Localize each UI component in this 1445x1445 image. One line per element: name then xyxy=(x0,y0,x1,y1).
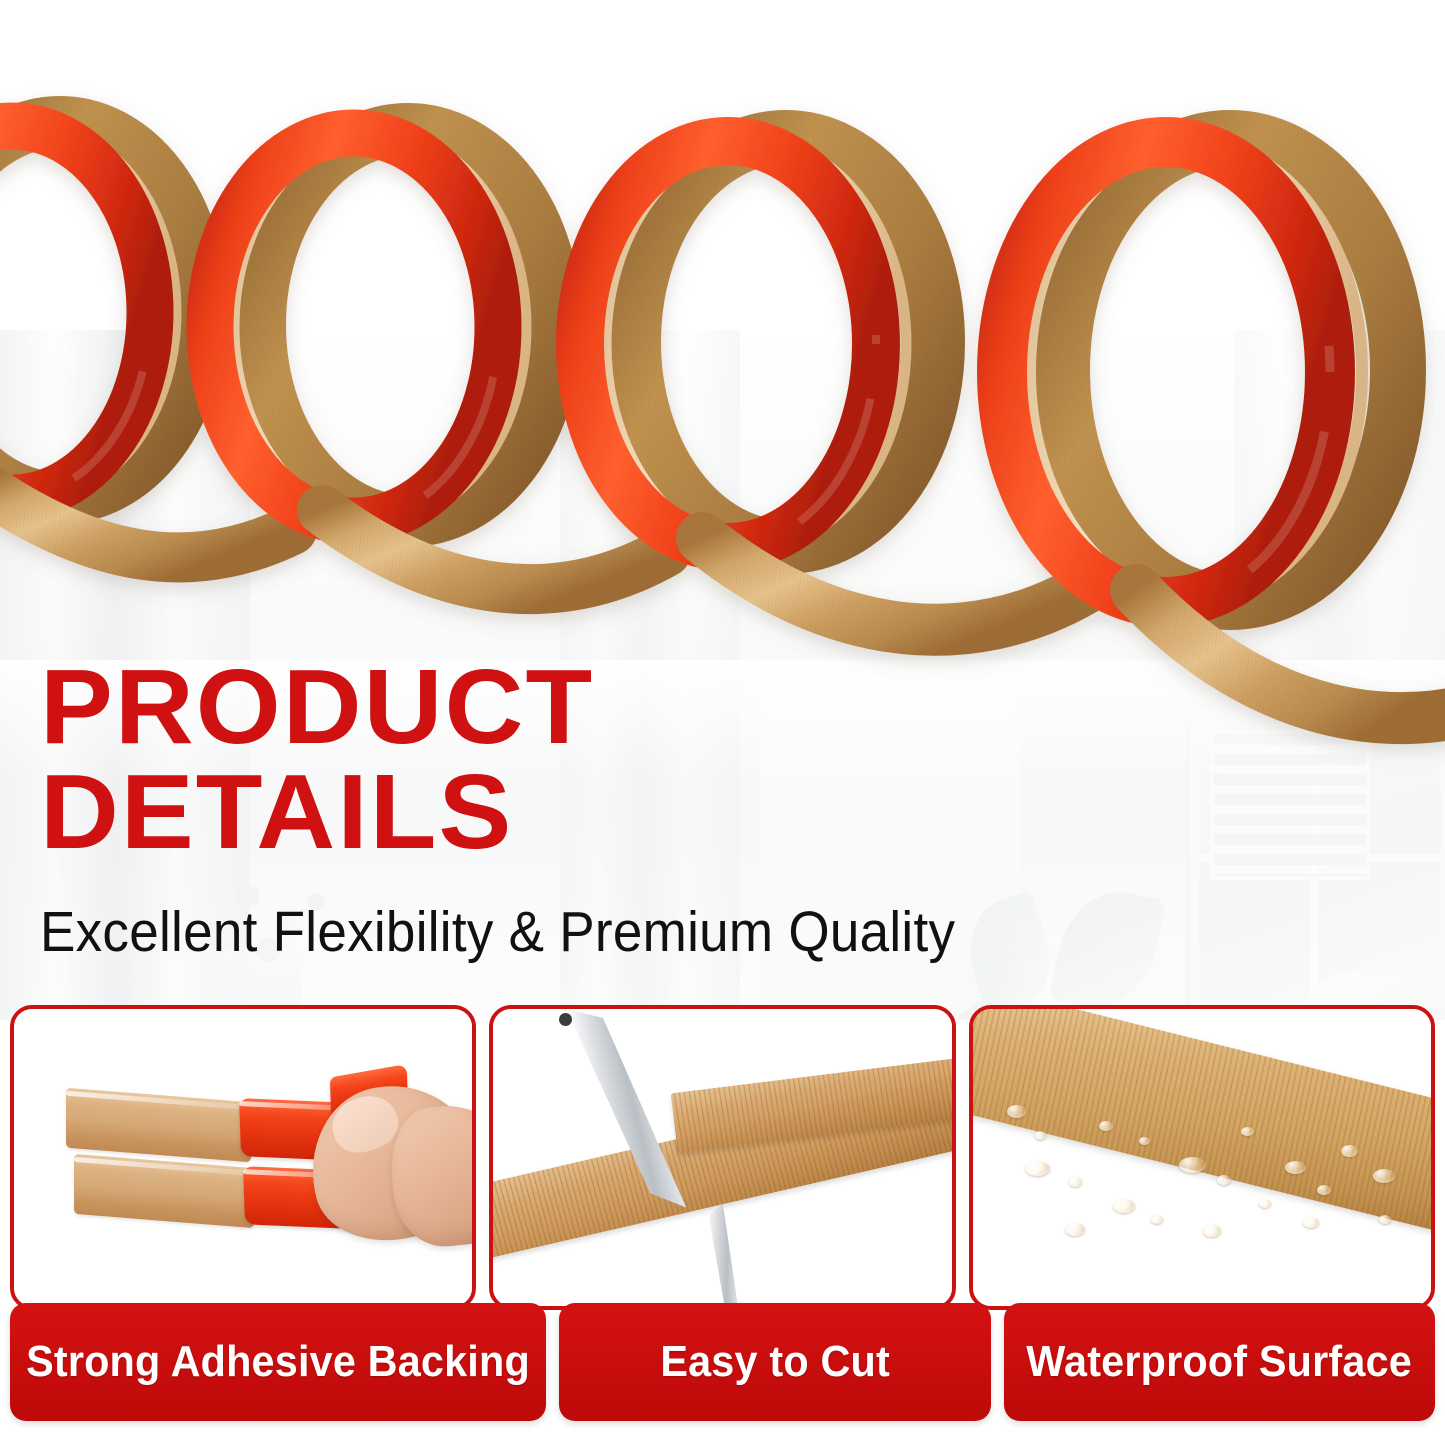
feature-panel-adhesive xyxy=(10,1005,476,1310)
water-droplet xyxy=(1139,1137,1150,1145)
page-subtitle: Excellent Flexibility & Premium Quality xyxy=(40,899,1063,965)
scissor-pivot xyxy=(559,1013,572,1026)
title-line-2: DETAILS xyxy=(40,760,1173,865)
water-droplet xyxy=(1203,1225,1221,1237)
feature-panel-cut xyxy=(489,1005,955,1310)
trim-strip-wet xyxy=(973,1009,1431,1235)
water-droplet xyxy=(1303,1217,1319,1228)
water-droplet xyxy=(1241,1127,1254,1136)
caption-banner-row: Strong Adhesive Backing Easy to Cut Wate… xyxy=(10,1303,1435,1421)
trim-strip-tan-upper xyxy=(66,1088,251,1163)
water-droplet xyxy=(1069,1177,1082,1187)
product-details-banner: PRODUCT DETAILS Excellent Flexibility & … xyxy=(0,0,1445,1445)
feature-panel-waterproof xyxy=(969,1005,1435,1310)
water-droplet xyxy=(1151,1215,1163,1224)
feature-image-cut xyxy=(493,1009,951,1306)
page-title: PRODUCT DETAILS xyxy=(40,655,1173,865)
coil-loop-4 xyxy=(1002,138,1398,602)
water-droplet xyxy=(1217,1175,1231,1185)
feature-image-adhesive xyxy=(14,1009,472,1306)
feature-image-waterproof xyxy=(973,1009,1431,1306)
coil-loop-3 xyxy=(580,137,938,547)
caption-banner-adhesive: Strong Adhesive Backing xyxy=(10,1303,546,1421)
trim-strip-tan-lower xyxy=(74,1154,254,1228)
caption-label-cut: Easy to Cut xyxy=(660,1337,890,1387)
water-droplet xyxy=(1035,1131,1046,1140)
water-droplet xyxy=(1025,1161,1050,1176)
water-droplet xyxy=(1373,1169,1395,1183)
coil-loops xyxy=(0,122,1445,718)
strip-highlight xyxy=(66,1091,251,1111)
water-droplet xyxy=(1007,1105,1026,1118)
title-line-1: PRODUCT xyxy=(40,648,594,766)
water-droplet xyxy=(1341,1145,1358,1157)
water-droplet xyxy=(1285,1161,1306,1174)
water-droplet xyxy=(1065,1223,1085,1236)
coil-loop-1 xyxy=(0,122,202,498)
scissor-blade-lower xyxy=(707,1204,740,1306)
caption-banner-cut: Easy to Cut xyxy=(559,1303,991,1421)
caption-label-adhesive: Strong Adhesive Backing xyxy=(26,1337,530,1387)
water-droplet xyxy=(1113,1199,1135,1213)
caption-label-waterproof: Waterproof Surface xyxy=(1026,1337,1412,1387)
heading-block: PRODUCT DETAILS Excellent Flexibility & … xyxy=(40,655,1140,965)
water-droplet xyxy=(1379,1215,1391,1224)
water-droplet xyxy=(1179,1157,1206,1173)
water-droplet xyxy=(1259,1199,1271,1208)
coil-loop-2 xyxy=(210,129,556,521)
water-droplet xyxy=(1317,1185,1331,1195)
caption-banner-waterproof: Waterproof Surface xyxy=(1004,1303,1436,1421)
water-droplet xyxy=(1099,1121,1113,1131)
